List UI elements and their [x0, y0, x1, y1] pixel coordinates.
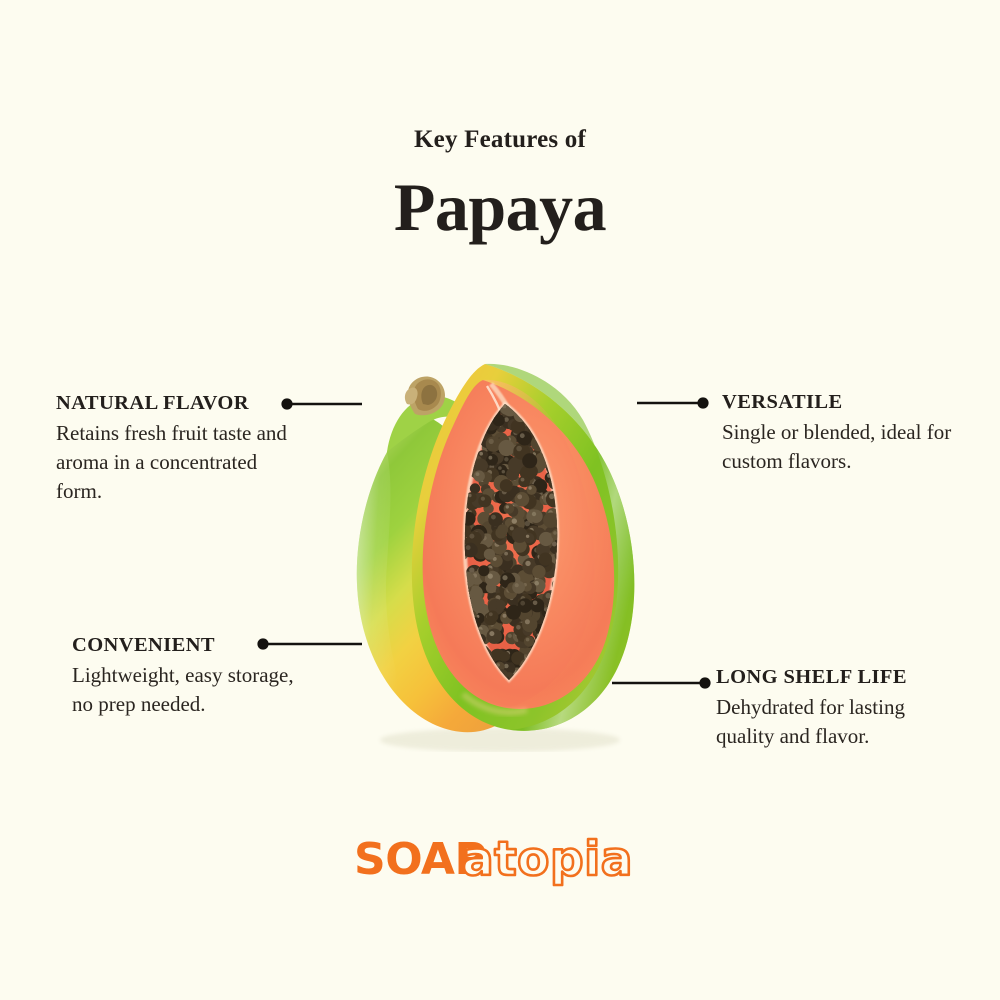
feature-convenient: CONVENIENT Lightweight, easy storage, no… — [72, 633, 302, 719]
halved-papaya — [412, 364, 635, 731]
papaya-illustration — [295, 312, 705, 752]
brand-logo[interactable]: SOAP atopia — [0, 828, 1000, 900]
infographic-canvas: Key Features of Papaya — [0, 0, 1000, 1000]
feature-heading: VERSATILE — [722, 390, 958, 416]
feature-long-shelf-life: LONG SHELF LIFE Dehydrated for lasting q… — [716, 665, 966, 751]
logo-word-outline: atopia — [462, 832, 633, 887]
feature-body: Dehydrated for lasting quality and flavo… — [716, 693, 966, 751]
feature-heading: CONVENIENT — [72, 633, 302, 659]
feature-natural-flavor: NATURAL FLAVOR Retains fresh fruit taste… — [56, 391, 288, 506]
title-block: Key Features of Papaya — [0, 126, 1000, 245]
title-eyebrow: Key Features of — [0, 126, 1000, 155]
soapatopia-logo[interactable]: SOAP atopia — [350, 828, 650, 892]
feature-heading: NATURAL FLAVOR — [56, 391, 288, 417]
feature-versatile: VERSATILE Single or blended, ideal for c… — [722, 390, 958, 476]
feature-body: Lightweight, easy storage, no prep neede… — [72, 661, 302, 719]
papaya-graphic — [295, 312, 705, 752]
feature-heading: LONG SHELF LIFE — [716, 665, 966, 691]
page-title: Papaya — [0, 169, 1000, 245]
feature-body: Single or blended, ideal for custom flav… — [722, 418, 958, 476]
feature-body: Retains fresh fruit taste and aroma in a… — [56, 419, 288, 506]
